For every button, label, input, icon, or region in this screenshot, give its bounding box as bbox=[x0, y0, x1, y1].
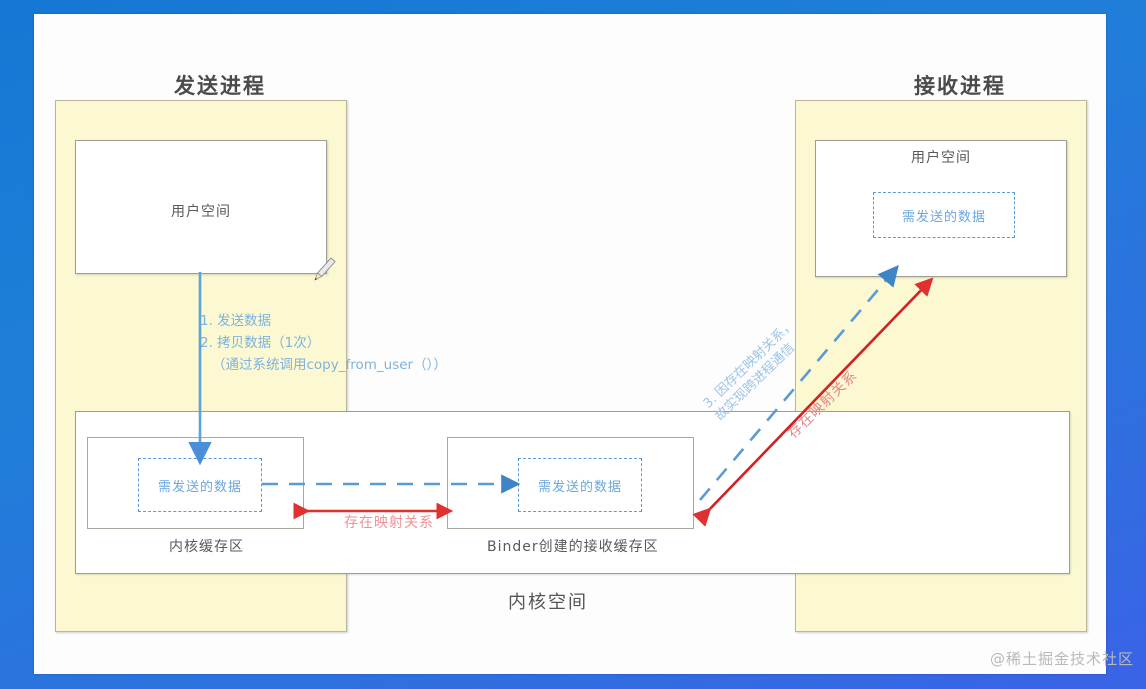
receive-process-title: 接收进程 bbox=[914, 70, 1006, 100]
send-user-space-box: 用户空间 bbox=[75, 140, 327, 274]
receive-user-space-label: 用户空间 bbox=[816, 147, 1066, 167]
kernel-buffer-label: 内核缓存区 bbox=[169, 536, 244, 556]
data-chip-receiver-user: 需发送的数据 bbox=[873, 192, 1015, 238]
binder-buffer-label: Binder创建的接收缓存区 bbox=[487, 536, 659, 556]
data-chip-kernel-buffer: 需发送的数据 bbox=[138, 458, 262, 512]
step-annotations: 1. 发送数据 2. 拷贝数据（1次） （通过系统调用copy_from_use… bbox=[200, 310, 500, 376]
mapping-relation-middle-label: 存在映射关系 bbox=[344, 512, 434, 532]
kernel-space-label: 内核空间 bbox=[508, 588, 588, 614]
diagram-canvas: 发送进程 接收进程 用户空间 用户空间 需发送的数据 需发送的数据 需发送的数据… bbox=[0, 0, 1146, 689]
step-2-text: 2. 拷贝数据（1次） bbox=[200, 332, 500, 354]
send-user-space-label: 用户空间 bbox=[76, 201, 326, 221]
step-1-text: 1. 发送数据 bbox=[200, 310, 500, 332]
send-process-title: 发送进程 bbox=[174, 70, 266, 100]
step-2-note-text: （通过系统调用copy_from_user（）） bbox=[200, 354, 500, 376]
watermark-text: @稀土掘金技术社区 bbox=[990, 648, 1134, 669]
data-chip-binder-buffer: 需发送的数据 bbox=[518, 458, 642, 512]
